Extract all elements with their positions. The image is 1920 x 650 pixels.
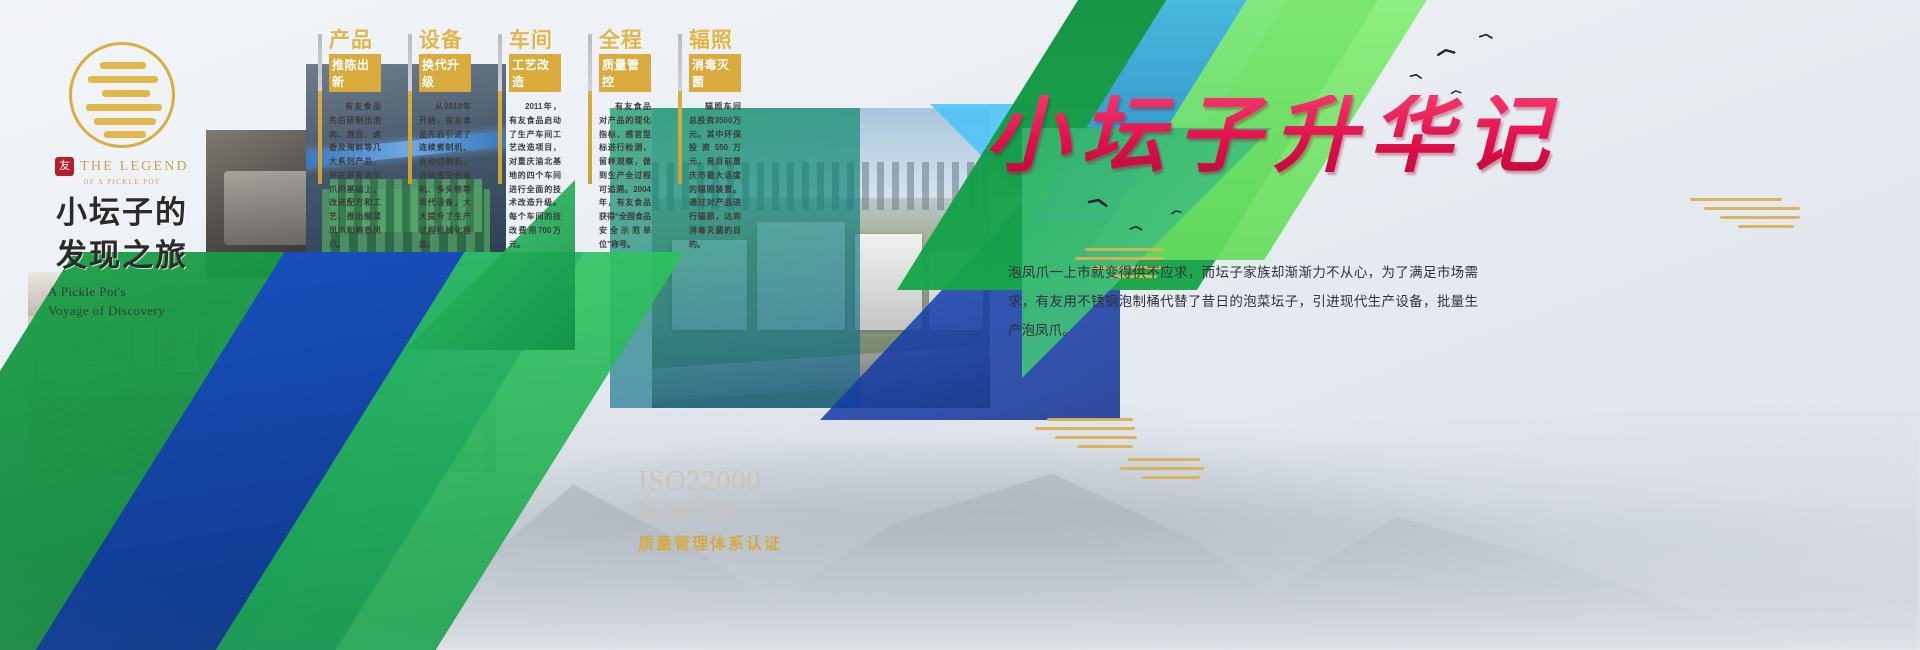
- bird-icon: [1409, 72, 1423, 81]
- cert-cn-line: 质量管理体系认证: [638, 530, 782, 554]
- legend-sub-text: OF A PICKLE POT: [22, 178, 222, 186]
- column-subheading: 消毒灭菌: [689, 54, 741, 92]
- column-body: 从2010年开始，有友食品先后引进了连续煮制机、自动切割机、自动真空包装机、多头…: [419, 100, 471, 251]
- hero-title: 小坛子升华记: [985, 95, 1561, 179]
- certification-block: ISO22000 HACCP 质量管理体系认证: [638, 466, 782, 554]
- cert-haccp-line: HACCP: [638, 496, 782, 526]
- cloud-motif-bottom: [1120, 458, 1212, 484]
- brand-cn-title-line1: 小坛子的: [22, 196, 222, 229]
- brand-seal-icon: 友: [55, 157, 74, 176]
- feature-column-equipment: 设备 换代升级 从2010年开始，有友食品先后引进了连续煮制机、自动切割机、自动…: [408, 30, 471, 251]
- feature-column-quality: 全程 质量管控 有友食品对产品的理化指标、感官型标进行检测，留样观察，做到生产全…: [588, 30, 651, 251]
- column-rule: [588, 34, 592, 184]
- mountain-peak-center: [700, 470, 1340, 650]
- column-subheading: 换代升级: [419, 54, 471, 92]
- cloud-motif-lower: [1035, 418, 1145, 452]
- hero-paragraph: 泡凤爪一上市就变得供不应求，而坛子家族却渐渐力不从心，为了满足市场需求，有友用不…: [1008, 258, 1478, 345]
- column-heading: 产品: [329, 30, 381, 51]
- column-subheading: 质量管控: [599, 54, 651, 92]
- bird-icon: [1478, 32, 1493, 41]
- legend-wordmark: 友 THE LEGEND: [22, 157, 222, 176]
- column-rule: [678, 34, 682, 184]
- column-heading: 设备: [419, 30, 471, 51]
- column-subheading: 工艺改造: [509, 54, 561, 92]
- feature-column-product: 产品 推陈出新 有友食品先后研制出泡肉、泡豆、卤香及海鲜等几大系列产品，并在原有…: [318, 30, 381, 251]
- pickle-pot-emblem-icon: [69, 42, 175, 148]
- mountain-peak-right: [1180, 470, 1800, 650]
- cloud-motif-right: [1690, 198, 1800, 232]
- brand-cn-title-line2: 发现之旅: [22, 239, 222, 272]
- column-heading: 车间: [509, 30, 561, 51]
- feature-column-irradiation: 辐照 消毒灭菌 辐照车间总投资3500万元。其中环保投资550万元，是目前重庆市…: [678, 30, 741, 251]
- mountain-backdrop-near: [0, 500, 1920, 650]
- brand-logo-block: 友 THE LEGEND OF A PICKLE POT 小坛子的 发现之旅 A…: [22, 42, 222, 321]
- bird-icon: [1087, 195, 1110, 209]
- bird-icon: [1129, 224, 1143, 232]
- brand-en-title-line2: Voyage of Discovery: [22, 302, 222, 321]
- bird-icon: [1436, 46, 1456, 58]
- legend-en-text: THE LEGEND: [80, 159, 189, 175]
- column-rule: [498, 34, 502, 184]
- bird-icon: [1170, 208, 1182, 215]
- column-heading: 全程: [599, 30, 651, 51]
- column-body: 有友食品对产品的理化指标、感官型标进行检测，留样观察，做到生产全过程可追溯。20…: [599, 100, 651, 251]
- column-rule: [318, 34, 322, 184]
- feature-column-workshop: 车间 工艺改造 2011年，有友食品启动了生产车间工艺改造项目，对重庆渝北基地的…: [498, 30, 561, 251]
- column-body: 辐照车间总投资3500万元。其中环保投资550万元，是目前重庆市最大话度的辐照装…: [689, 100, 741, 251]
- column-heading: 辐照: [689, 30, 741, 51]
- poster-canvas: 友 THE LEGEND OF A PICKLE POT 小坛子的 发现之旅 A…: [0, 0, 1920, 650]
- feature-columns: 产品 推陈出新 有友食品先后研制出泡肉、泡豆、卤香及海鲜等几大系列产品，并在原有…: [318, 30, 741, 251]
- column-body: 有友食品先后研制出泡肉、泡豆、卤香及海鲜等几大系列产品，并在原有泡凤爪的基础上，…: [329, 100, 381, 251]
- brand-en-title-line1: A Pickle Pot's: [22, 283, 222, 302]
- column-rule: [408, 34, 412, 184]
- column-body: 2011年，有友食品启动了生产车间工艺改造项目，对重庆渝北基地的四个车间进行全面…: [509, 100, 561, 251]
- photo-clean-workshop: [276, 272, 496, 472]
- cert-iso-line: ISO22000: [638, 466, 782, 496]
- column-subheading: 推陈出新: [329, 54, 381, 92]
